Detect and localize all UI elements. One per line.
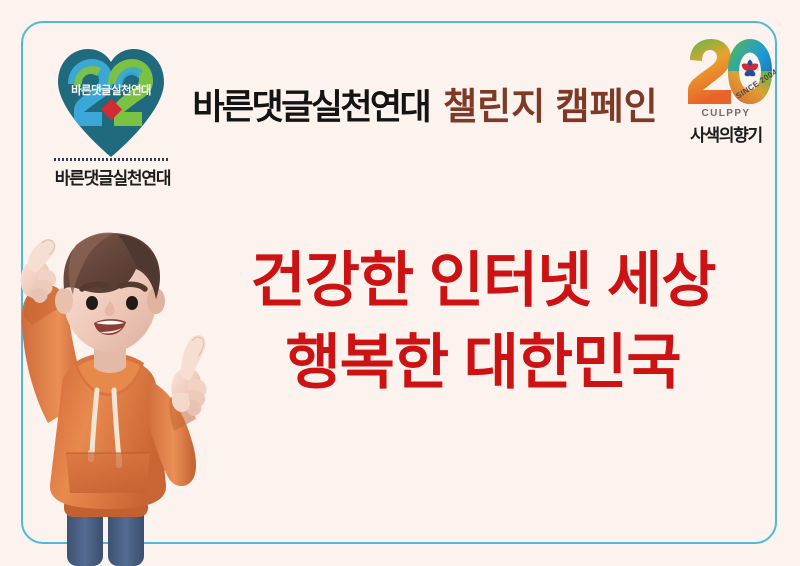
right-sponsor-logo: SINCE 2004 CULPPY 사색의향기 bbox=[676, 36, 776, 166]
header-title-org: 바른댓글실천연대 bbox=[192, 79, 429, 130]
main-slogan: 건강한 인터넷 세상 행복한 대한민국 bbox=[198, 240, 768, 404]
header-title: 바른댓글실천연대 챌린지 캠페인 bbox=[180, 76, 670, 130]
left-organization-logo: 바른댓글실천연대 바른댓글실천연대 bbox=[40, 40, 180, 190]
logo-dotted-divider bbox=[54, 158, 170, 161]
sponsor-name-kr: 사색의향기 bbox=[676, 121, 776, 146]
heart-logo-inner-text: 바른댓글실천연대 bbox=[71, 83, 151, 97]
slogan-line-2: 행복한 대한민국 bbox=[198, 322, 768, 404]
culppy-20th-anniversary-icon: SINCE 2004 bbox=[680, 36, 776, 108]
sponsor-name-en: CULPPY bbox=[676, 108, 776, 119]
slogan-line-1: 건강한 인터넷 세상 bbox=[198, 240, 768, 322]
poster-header: 바른댓글실천연대 바른댓글실천연대 바른댓글실천연대 챌린지 캠페인 bbox=[0, 28, 800, 178]
heart-ribbon-icon: 바른댓글실천연대 bbox=[52, 40, 170, 160]
campaign-poster: 바른댓글실천연대 바른댓글실천연대 바른댓글실천연대 챌린지 캠페인 bbox=[0, 0, 800, 566]
header-title-campaign: 챌린지 캠페인 bbox=[443, 76, 658, 130]
left-logo-caption: 바른댓글실천연대 bbox=[40, 164, 185, 189]
